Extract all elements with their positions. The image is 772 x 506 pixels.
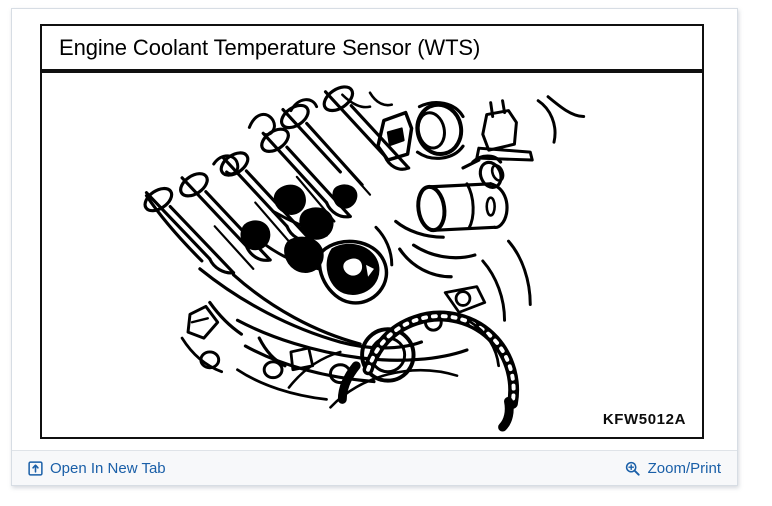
figure-code-label: KFW5012A bbox=[603, 411, 686, 428]
engine-diagram-illustration bbox=[42, 73, 702, 437]
figure-title-box: Engine Coolant Temperature Sensor (WTS) bbox=[40, 24, 704, 71]
open-in-new-tab-label: Open In New Tab bbox=[50, 461, 166, 476]
image-viewer-toolbar: Open In New Tab Zoom/Print bbox=[12, 450, 737, 485]
magnifier-plus-icon bbox=[625, 460, 641, 476]
screenshot-root: Engine Coolant Temperature Sensor (WTS) bbox=[0, 0, 772, 506]
figure-title: Engine Coolant Temperature Sensor (WTS) bbox=[42, 35, 480, 61]
document-area: Engine Coolant Temperature Sensor (WTS) bbox=[12, 9, 737, 451]
open-in-new-tab-icon bbox=[27, 460, 43, 476]
figure-image-box[interactable]: KFW5012A bbox=[40, 71, 704, 439]
image-viewer-panel: Engine Coolant Temperature Sensor (WTS) bbox=[11, 8, 738, 486]
zoom-print-label: Zoom/Print bbox=[648, 461, 721, 476]
zoom-print-link[interactable]: Zoom/Print bbox=[625, 460, 721, 476]
open-in-new-tab-link[interactable]: Open In New Tab bbox=[27, 460, 166, 476]
